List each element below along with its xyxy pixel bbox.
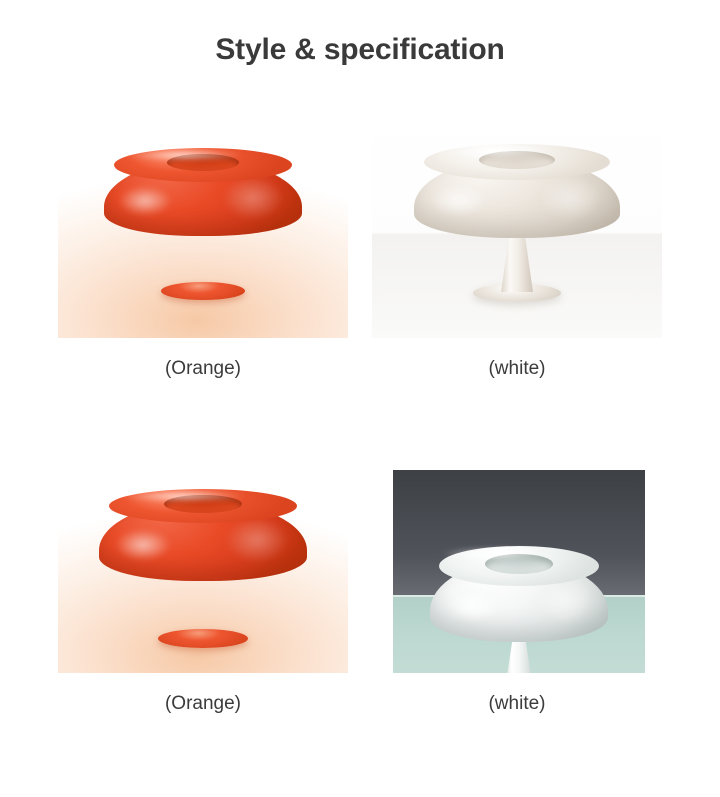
product-photo-white <box>372 118 662 338</box>
gallery-row: (Orange) <box>0 453 720 788</box>
style-option-caption: (Orange) <box>58 693 348 715</box>
style-option-orange[interactable]: (Orange) <box>58 118 348 453</box>
page-title: Style & specification <box>0 33 720 67</box>
lamp-illustration-white <box>419 538 619 673</box>
lamp-illustration-orange <box>92 489 314 659</box>
room-backdrop <box>372 453 662 673</box>
style-option-caption: (white) <box>372 693 662 715</box>
style-option-white[interactable]: (white) <box>372 118 662 453</box>
lamp-illustration-white <box>407 144 627 314</box>
gallery-row: (Orange) <box>0 118 720 453</box>
style-option-caption: (Orange) <box>58 358 348 380</box>
style-gallery: (Orange) <box>0 118 720 788</box>
lamp-top-aperture <box>167 154 239 171</box>
product-photo-orange <box>58 118 348 338</box>
style-option-caption: (white) <box>372 358 662 380</box>
product-photo-orange <box>58 453 348 673</box>
photo-panel <box>393 470 645 673</box>
lamp-illustration-orange <box>98 146 308 311</box>
lamp-top-aperture <box>164 495 242 513</box>
style-option-white[interactable]: (white) <box>372 453 662 788</box>
lamp-top-aperture <box>485 554 553 574</box>
product-photo-white-interior <box>372 453 662 673</box>
lamp-top-aperture <box>479 151 555 169</box>
style-option-orange[interactable]: (Orange) <box>58 453 348 788</box>
